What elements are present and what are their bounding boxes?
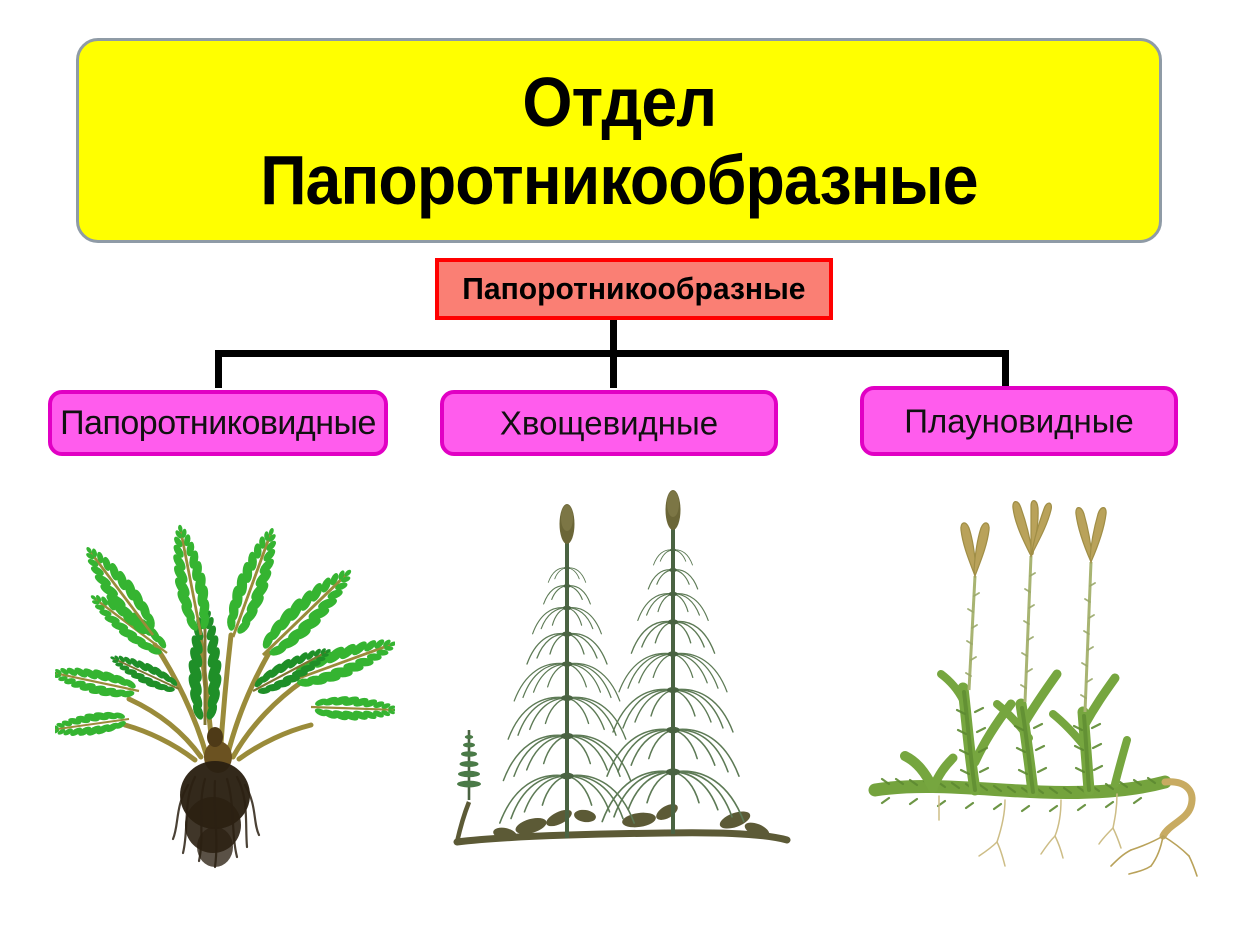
clubmoss-plant-image [865, 490, 1205, 885]
diagram-child-node-clubmosses-label: Плауновидные [904, 405, 1134, 438]
slide-title-line-1: Отдел [522, 67, 716, 137]
diagram-child-node-ferns: Папоротниковидные [48, 390, 388, 456]
connector-drop-right [1002, 350, 1009, 388]
connector-drop-middle [610, 350, 617, 388]
slide-title-banner: Отдел Папоротникообразные [76, 38, 1162, 243]
horsetail-plant-image [435, 490, 800, 875]
diagram-child-node-clubmosses: Плауновидные [860, 386, 1178, 456]
diagram-root-node-label: Папоротникообразные [462, 271, 805, 307]
diagram-child-node-horsetails: Хвощевидные [440, 390, 778, 456]
slide-title-line-2: Папоротникообразные [260, 145, 977, 215]
diagram-child-node-ferns-label: Папоротниковидные [60, 406, 376, 440]
fern-plant-image [55, 485, 395, 880]
diagram-root-node: Папоротникообразные [435, 258, 833, 320]
diagram-child-node-horsetails-label: Хвощевидные [500, 407, 718, 440]
connector-drop-left [215, 350, 222, 388]
